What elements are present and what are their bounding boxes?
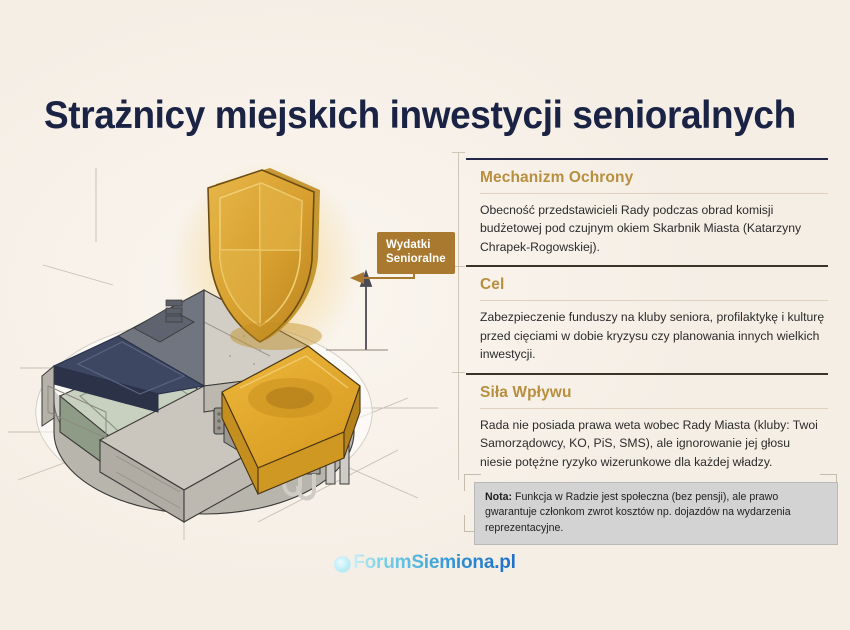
section-body: Rada nie posiada prawa weta wobec Rady M…	[480, 416, 825, 472]
footer-logo[interactable]: ForumSiemiona.pl	[0, 552, 850, 578]
section-body: Obecność przedstawicieli Rady podczas ob…	[480, 201, 825, 257]
section-mechanizm-ochrony: Mechanizm Ochrony Obecność przedstawicie…	[466, 158, 828, 265]
note-box: Nota: Funkcja w Radzie jest społeczna (b…	[474, 482, 838, 545]
panel-tick-low	[452, 372, 465, 373]
info-panel: Mechanizm Ochrony Obecność przedstawicie…	[466, 158, 828, 480]
section-cel: Cel Zabezpieczenie funduszy na kluby sen…	[466, 265, 828, 372]
section-sila-wplywu: Siła Wpływu Rada nie posiada prawa weta …	[466, 373, 828, 480]
globe-icon	[334, 556, 351, 573]
section-rule	[480, 408, 828, 409]
note-text: Funkcja w Radzie jest społeczna (bez pen…	[485, 491, 791, 534]
callout-wydatki-senioralne: Wydatki Senioralne	[377, 232, 455, 274]
note-label: Nota:	[485, 491, 512, 503]
panel-tick-top	[452, 152, 465, 153]
page-title: Strażnicy miejskich inwestycji senioraln…	[44, 96, 783, 137]
section-rule	[480, 193, 828, 194]
up-arrow	[361, 272, 371, 350]
illustration-isometric-budget-pie	[8, 150, 448, 540]
infographic-canvas: Strażnicy miejskich inwestycji senioraln…	[0, 0, 850, 630]
section-heading: Cel	[480, 276, 828, 294]
section-body: Zabezpieczenie funduszy na kluby seniora…	[480, 308, 825, 364]
footer-logo-text: ForumSiemiona.pl	[353, 552, 516, 574]
section-heading: Siła Wpływu	[480, 384, 828, 402]
section-heading: Mechanizm Ochrony	[480, 169, 828, 187]
callout-line-2: Senioralne	[386, 252, 446, 266]
callout-line-1: Wydatki	[386, 238, 446, 252]
section-rule	[480, 300, 828, 301]
panel-guide-line	[458, 152, 459, 480]
